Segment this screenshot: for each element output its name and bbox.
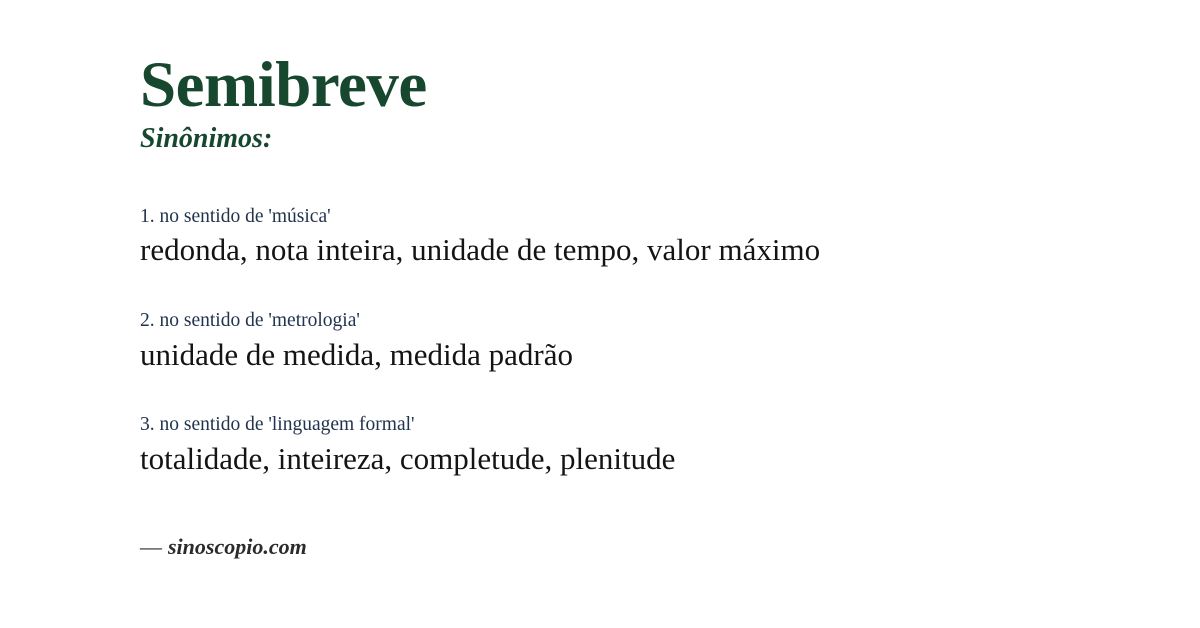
sense-label-1: 1. no sentido de 'música'	[140, 205, 1150, 229]
sense-entry-3: 3. no sentido de 'linguagem formal' tota…	[140, 413, 1150, 477]
sense-synonyms-2: unidade de medida, medida padrão	[140, 336, 1150, 374]
sense-label-3: 3. no sentido de 'linguagem formal'	[140, 413, 1150, 437]
card-header: Semibreve Sinônimos:	[140, 52, 1140, 155]
sense-entry-2: 2. no sentido de 'metrologia' unidade de…	[140, 309, 1150, 373]
source-name: sinoscopio.com	[168, 534, 307, 559]
sense-list: 1. no sentido de 'música' redonda, nota …	[140, 205, 1150, 478]
synonym-card: Semibreve Sinônimos: 1. no sentido de 'm…	[0, 0, 1200, 628]
card-footer: —sinoscopio.com	[140, 534, 307, 560]
em-dash-icon: —	[140, 534, 162, 559]
sense-synonyms-3: totalidade, inteireza, completude, pleni…	[140, 440, 1150, 478]
sense-synonyms-1: redonda, nota inteira, unidade de tempo,…	[140, 231, 1150, 269]
sense-label-2: 2. no sentido de 'metrologia'	[140, 309, 1150, 333]
sense-entry-1: 1. no sentido de 'música' redonda, nota …	[140, 205, 1150, 269]
attribution: —sinoscopio.com	[140, 534, 307, 560]
page-title: Semibreve	[140, 52, 1140, 118]
subtitle-synonyms: Sinônimos:	[140, 124, 1140, 155]
